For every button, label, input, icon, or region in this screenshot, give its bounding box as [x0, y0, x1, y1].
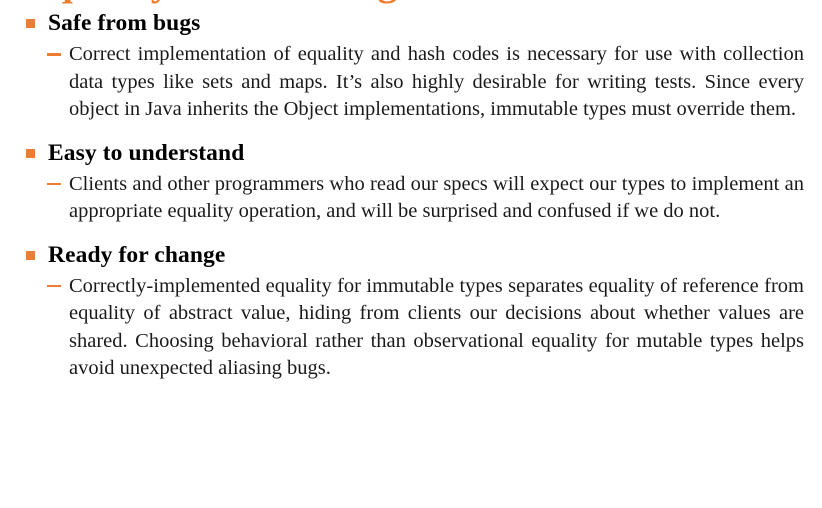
section-spacer — [0, 226, 822, 239]
slide-body-content: Safe from bugs Correct implementation of… — [0, 7, 822, 383]
sub-bullet-text: Clients and other programmers who read o… — [69, 171, 822, 226]
square-bullet-icon — [26, 251, 35, 260]
slide-title-clipped-region: Equality and Hashing — [0, 0, 822, 7]
bullet-heading-ready-for-change: Ready for change — [0, 239, 822, 271]
bullet-heading-label: Safe from bugs — [48, 10, 200, 36]
sub-bullet-safe-from-bugs: Correct implementation of equality and h… — [0, 41, 822, 124]
square-bullet-icon — [26, 149, 35, 158]
sub-bullet-text: Correctly-implemented equality for immut… — [69, 273, 822, 383]
bullet-heading-label: Ready for change — [48, 242, 225, 268]
sub-bullet-easy-to-understand: Clients and other programmers who read o… — [0, 171, 822, 226]
bullet-heading-label: Easy to understand — [48, 140, 244, 166]
bullet-group-safe-from-bugs: Safe from bugs Correct implementation of… — [0, 7, 822, 124]
sub-bullet-text: Correct implementation of equality and h… — [69, 41, 822, 124]
sub-bullet-ready-for-change: Correctly-implemented equality for immut… — [0, 273, 822, 383]
square-bullet-icon — [26, 19, 35, 28]
en-dash-bullet-icon — [47, 285, 61, 288]
bullet-group-easy-to-understand: Easy to understand Clients and other pro… — [0, 137, 822, 226]
section-spacer — [0, 124, 822, 137]
presentation-slide: Equality and Hashing Safe from bugs Corr… — [0, 0, 822, 508]
bullet-group-ready-for-change: Ready for change Correctly-implemented e… — [0, 239, 822, 383]
en-dash-bullet-icon — [47, 183, 61, 186]
slide-title: Equality and Hashing — [24, 0, 398, 4]
en-dash-bullet-icon — [47, 53, 61, 56]
bullet-heading-easy-to-understand: Easy to understand — [0, 137, 822, 169]
bullet-heading-safe-from-bugs: Safe from bugs — [0, 7, 822, 39]
